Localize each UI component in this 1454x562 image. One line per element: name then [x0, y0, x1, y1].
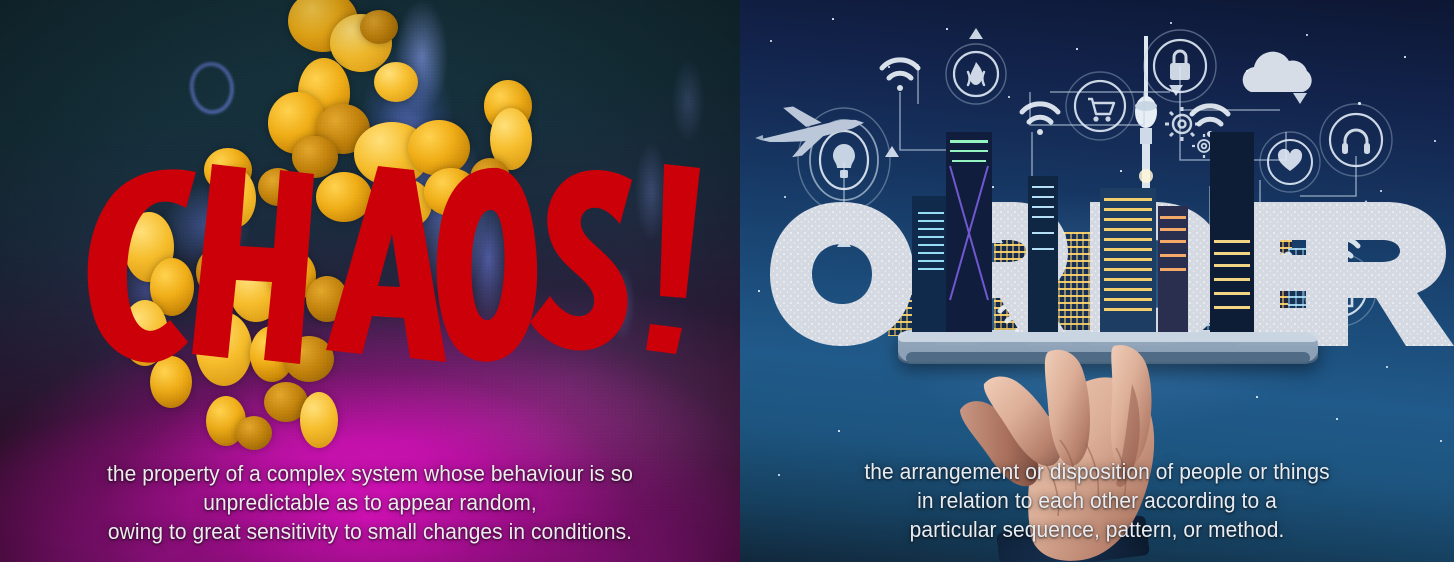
- comparison-figure: CHAOS!: [0, 0, 1454, 562]
- gear-icon: [1192, 134, 1216, 158]
- shopping-cart-icon: [1066, 72, 1134, 140]
- caption-order: the arrangement or disposition of people…: [765, 457, 1429, 544]
- wifi-icon: [1106, 299, 1146, 331]
- fire-icon: [946, 44, 1006, 104]
- wifi-icon: [1022, 104, 1058, 135]
- heart-icon: [1260, 132, 1320, 192]
- caption-chaos: the property of a complex system whose b…: [26, 459, 714, 546]
- headphones-icon: [1320, 104, 1392, 176]
- wifi-icon: [882, 60, 918, 91]
- house-icon: [1304, 254, 1376, 326]
- panel-chaos: CHAOS!: [0, 0, 740, 562]
- wifi-icon: [1000, 303, 1036, 334]
- cloud-icon: [1243, 52, 1312, 92]
- lock-icon: [1144, 30, 1216, 102]
- wifi-icon: [1192, 233, 1228, 264]
- gear-icon: [1165, 107, 1199, 141]
- panel-order: ORDER: [740, 0, 1454, 562]
- share-nodes-icon: [1261, 230, 1292, 260]
